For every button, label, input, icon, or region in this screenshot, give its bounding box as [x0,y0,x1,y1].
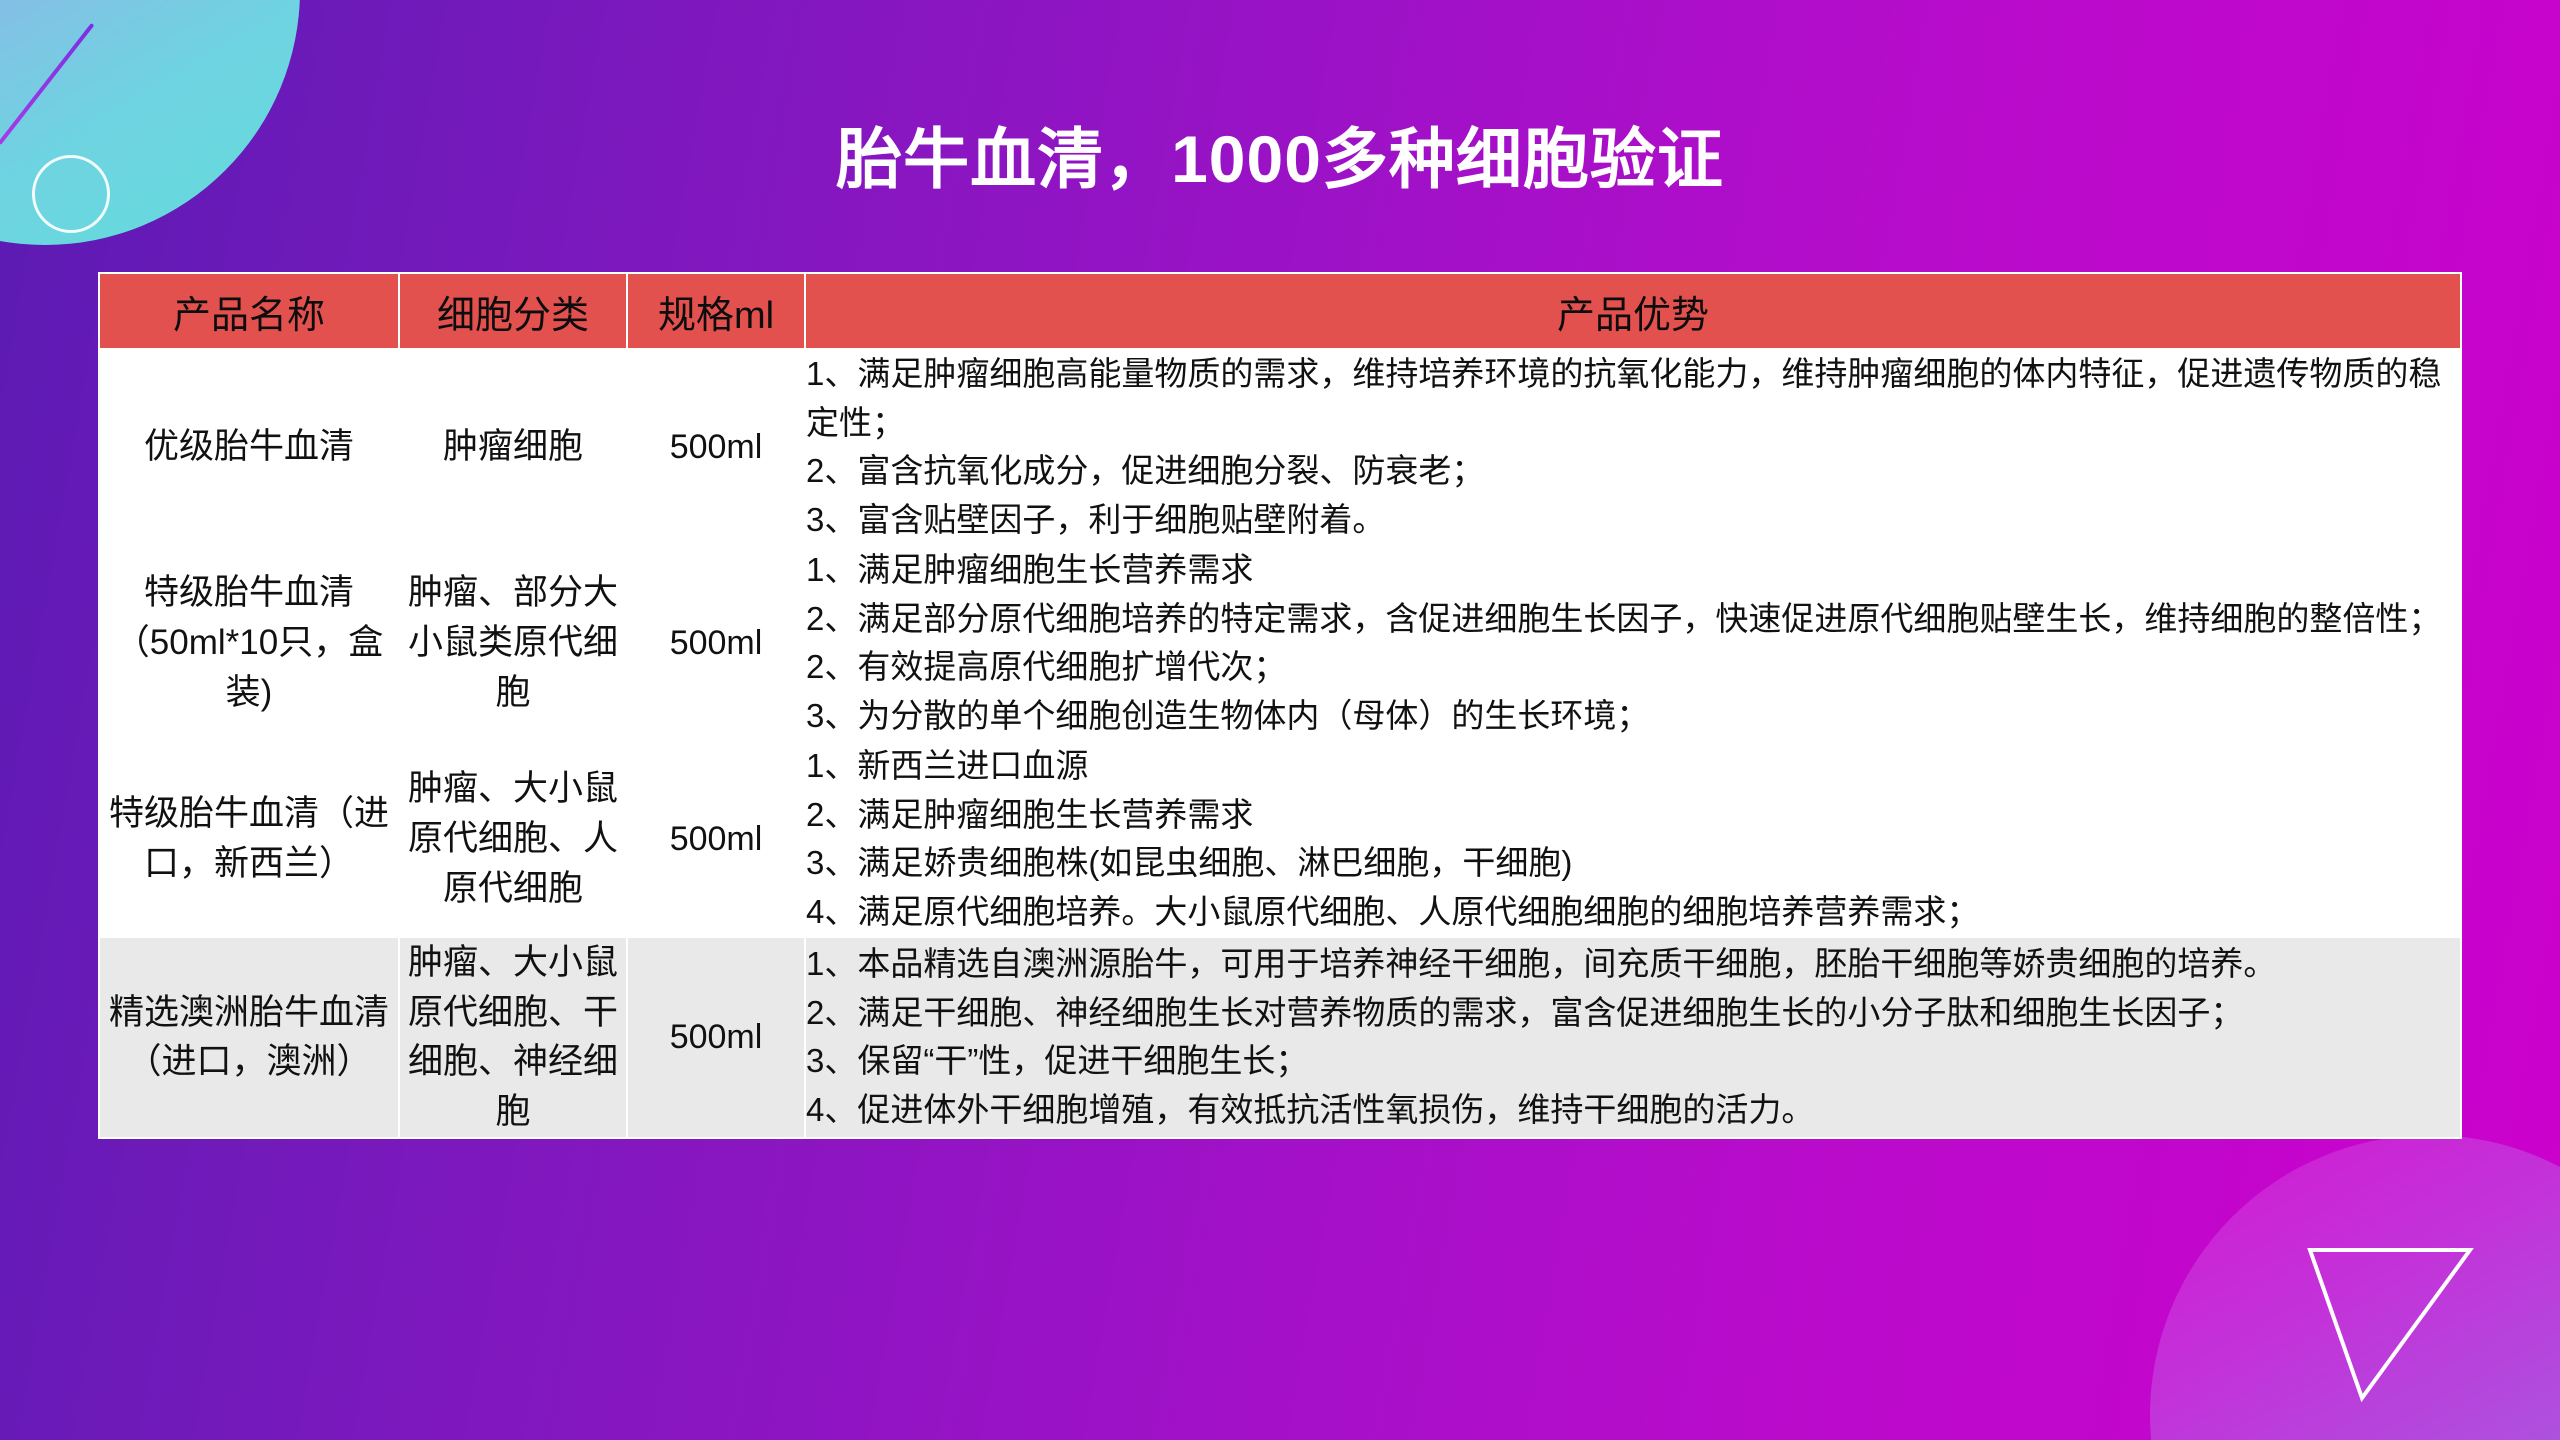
page-title: 胎牛血清，1000多种细胞验证 [0,126,2560,192]
cell-spec: 500ml [627,741,805,937]
product-table: 产品名称 细胞分类 规格ml 产品优势 优级胎牛血清 肿瘤细胞 500ml 1、… [98,272,2462,1139]
cell-advantages: 1、新西兰进口血源 2、满足肿瘤细胞生长营养需求 3、满足娇贵细胞株(如昆虫细胞… [805,741,2461,937]
cell-product-name: 特级胎牛血清（进口，新西兰） [99,741,399,937]
top-left-circle-blob-icon [0,0,300,245]
product-table-container: 产品名称 细胞分类 规格ml 产品优势 优级胎牛血清 肿瘤细胞 500ml 1、… [98,272,2462,1139]
cell-cell-class: 肿瘤细胞 [399,349,627,545]
cell-advantages: 1、满足肿瘤细胞生长营养需求 2、满足部分原代细胞培养的特定需求，含促进细胞生长… [805,545,2461,741]
cell-advantages: 1、满足肿瘤细胞高能量物质的需求，维持培养环境的抗氧化能力，维持肿瘤细胞的体内特… [805,349,2461,545]
cell-advantages: 1、本品精选自澳洲源胎牛，可用于培养神经干细胞，间充质干细胞，胚胎干细胞等娇贵细… [805,937,2461,1138]
column-header-product-name: 产品名称 [99,273,399,349]
cell-cell-class: 肿瘤、部分大小鼠类原代细胞 [399,545,627,741]
column-header-advantages: 产品优势 [805,273,2461,349]
bottom-right-circle-blob-icon [2150,1135,2560,1440]
table-row: 优级胎牛血清 肿瘤细胞 500ml 1、满足肿瘤细胞高能量物质的需求，维持培养环… [99,349,2461,545]
slide-canvas: 胎牛血清，1000多种细胞验证 产品名称 细胞分类 规格ml 产品优势 优级胎牛… [0,0,2560,1440]
column-header-cell-class: 细胞分类 [399,273,627,349]
cell-cell-class: 肿瘤、大小鼠原代细胞、人原代细胞 [399,741,627,937]
column-header-spec: 规格ml [627,273,805,349]
table-row: 特级胎牛血清（50ml*10只，盒装) 肿瘤、部分大小鼠类原代细胞 500ml … [99,545,2461,741]
cell-spec: 500ml [627,937,805,1138]
cell-product-name: 精选澳洲胎牛血清（进口，澳洲） [99,937,399,1138]
cell-product-name: 特级胎牛血清（50ml*10只，盒装) [99,545,399,741]
cell-product-name: 优级胎牛血清 [99,349,399,545]
table-row: 特级胎牛血清（进口，新西兰） 肿瘤、大小鼠原代细胞、人原代细胞 500ml 1、… [99,741,2461,937]
cell-spec: 500ml [627,349,805,545]
table-row: 精选澳洲胎牛血清（进口，澳洲） 肿瘤、大小鼠原代细胞、干细胞、神经细胞 500m… [99,937,2461,1138]
cell-cell-class: 肿瘤、大小鼠原代细胞、干细胞、神经细胞 [399,937,627,1138]
cell-spec: 500ml [627,545,805,741]
table-header-row: 产品名称 细胞分类 规格ml 产品优势 [99,273,2461,349]
bottom-right-outline-triangle-icon [2304,1244,2476,1404]
